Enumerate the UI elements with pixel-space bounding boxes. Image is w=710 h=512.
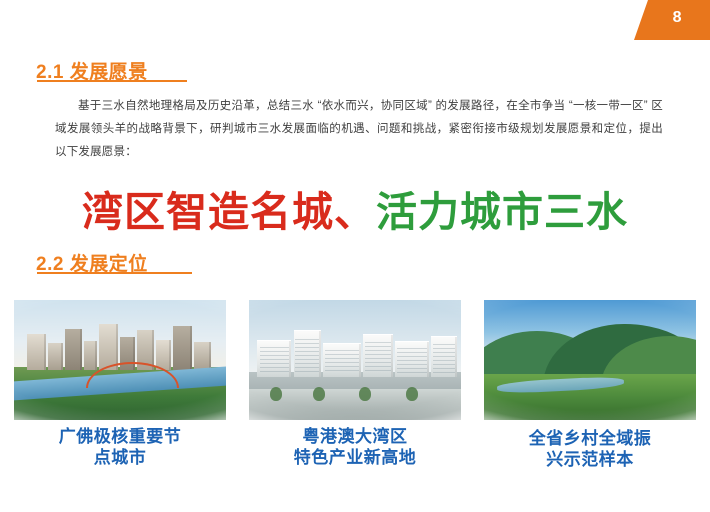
positioning-caption-2: 粤港澳大湾区 特色产业新高地 <box>249 426 461 468</box>
vision-paragraph: 基于三水自然地理格局及历史沿革，总结三水 “依水而兴，协同区域” 的发展路径，在… <box>55 95 663 164</box>
page-number: 8 <box>673 9 682 27</box>
vision-slogan: 湾区智造名城、活力城市三水 <box>0 178 710 238</box>
caption-line-2: 兴示范样本 <box>484 449 696 470</box>
green-mountain-countryside-photo <box>484 300 696 420</box>
modern-industrial-park-photo <box>249 300 461 420</box>
slogan-separator: 、 <box>334 189 376 235</box>
positioning-caption-1: 广佛极核重要节 点城市 <box>14 426 226 468</box>
positioning-card-2: 粤港澳大湾区 特色产业新高地 <box>249 300 461 512</box>
slogan-part-2: 活力城市三水 <box>376 189 628 235</box>
section-underline-positioning <box>37 272 192 274</box>
positioning-card-1: 广佛极核重要节 点城市 <box>14 300 226 512</box>
positioning-caption-3: 全省乡村全域振 兴示范样本 <box>484 428 696 470</box>
caption-line-1: 广佛极核重要节 <box>14 426 226 447</box>
caption-line-2: 点城市 <box>14 447 226 468</box>
slogan-part-1: 湾区智造名城 <box>82 189 334 235</box>
caption-line-2: 特色产业新高地 <box>249 447 461 468</box>
section-underline-vision <box>37 80 187 82</box>
caption-line-1: 粤港澳大湾区 <box>249 426 461 447</box>
page-number-banner: 8 <box>634 0 710 40</box>
positioning-card-3: 全省乡村全域振 兴示范样本 <box>484 300 696 512</box>
positioning-card-row: 广佛极核重要节 点城市 粤港澳大湾区 特色产业新 <box>0 300 710 512</box>
city-skyline-bridge-photo <box>14 300 226 420</box>
caption-line-1: 全省乡村全域振 <box>484 428 696 449</box>
